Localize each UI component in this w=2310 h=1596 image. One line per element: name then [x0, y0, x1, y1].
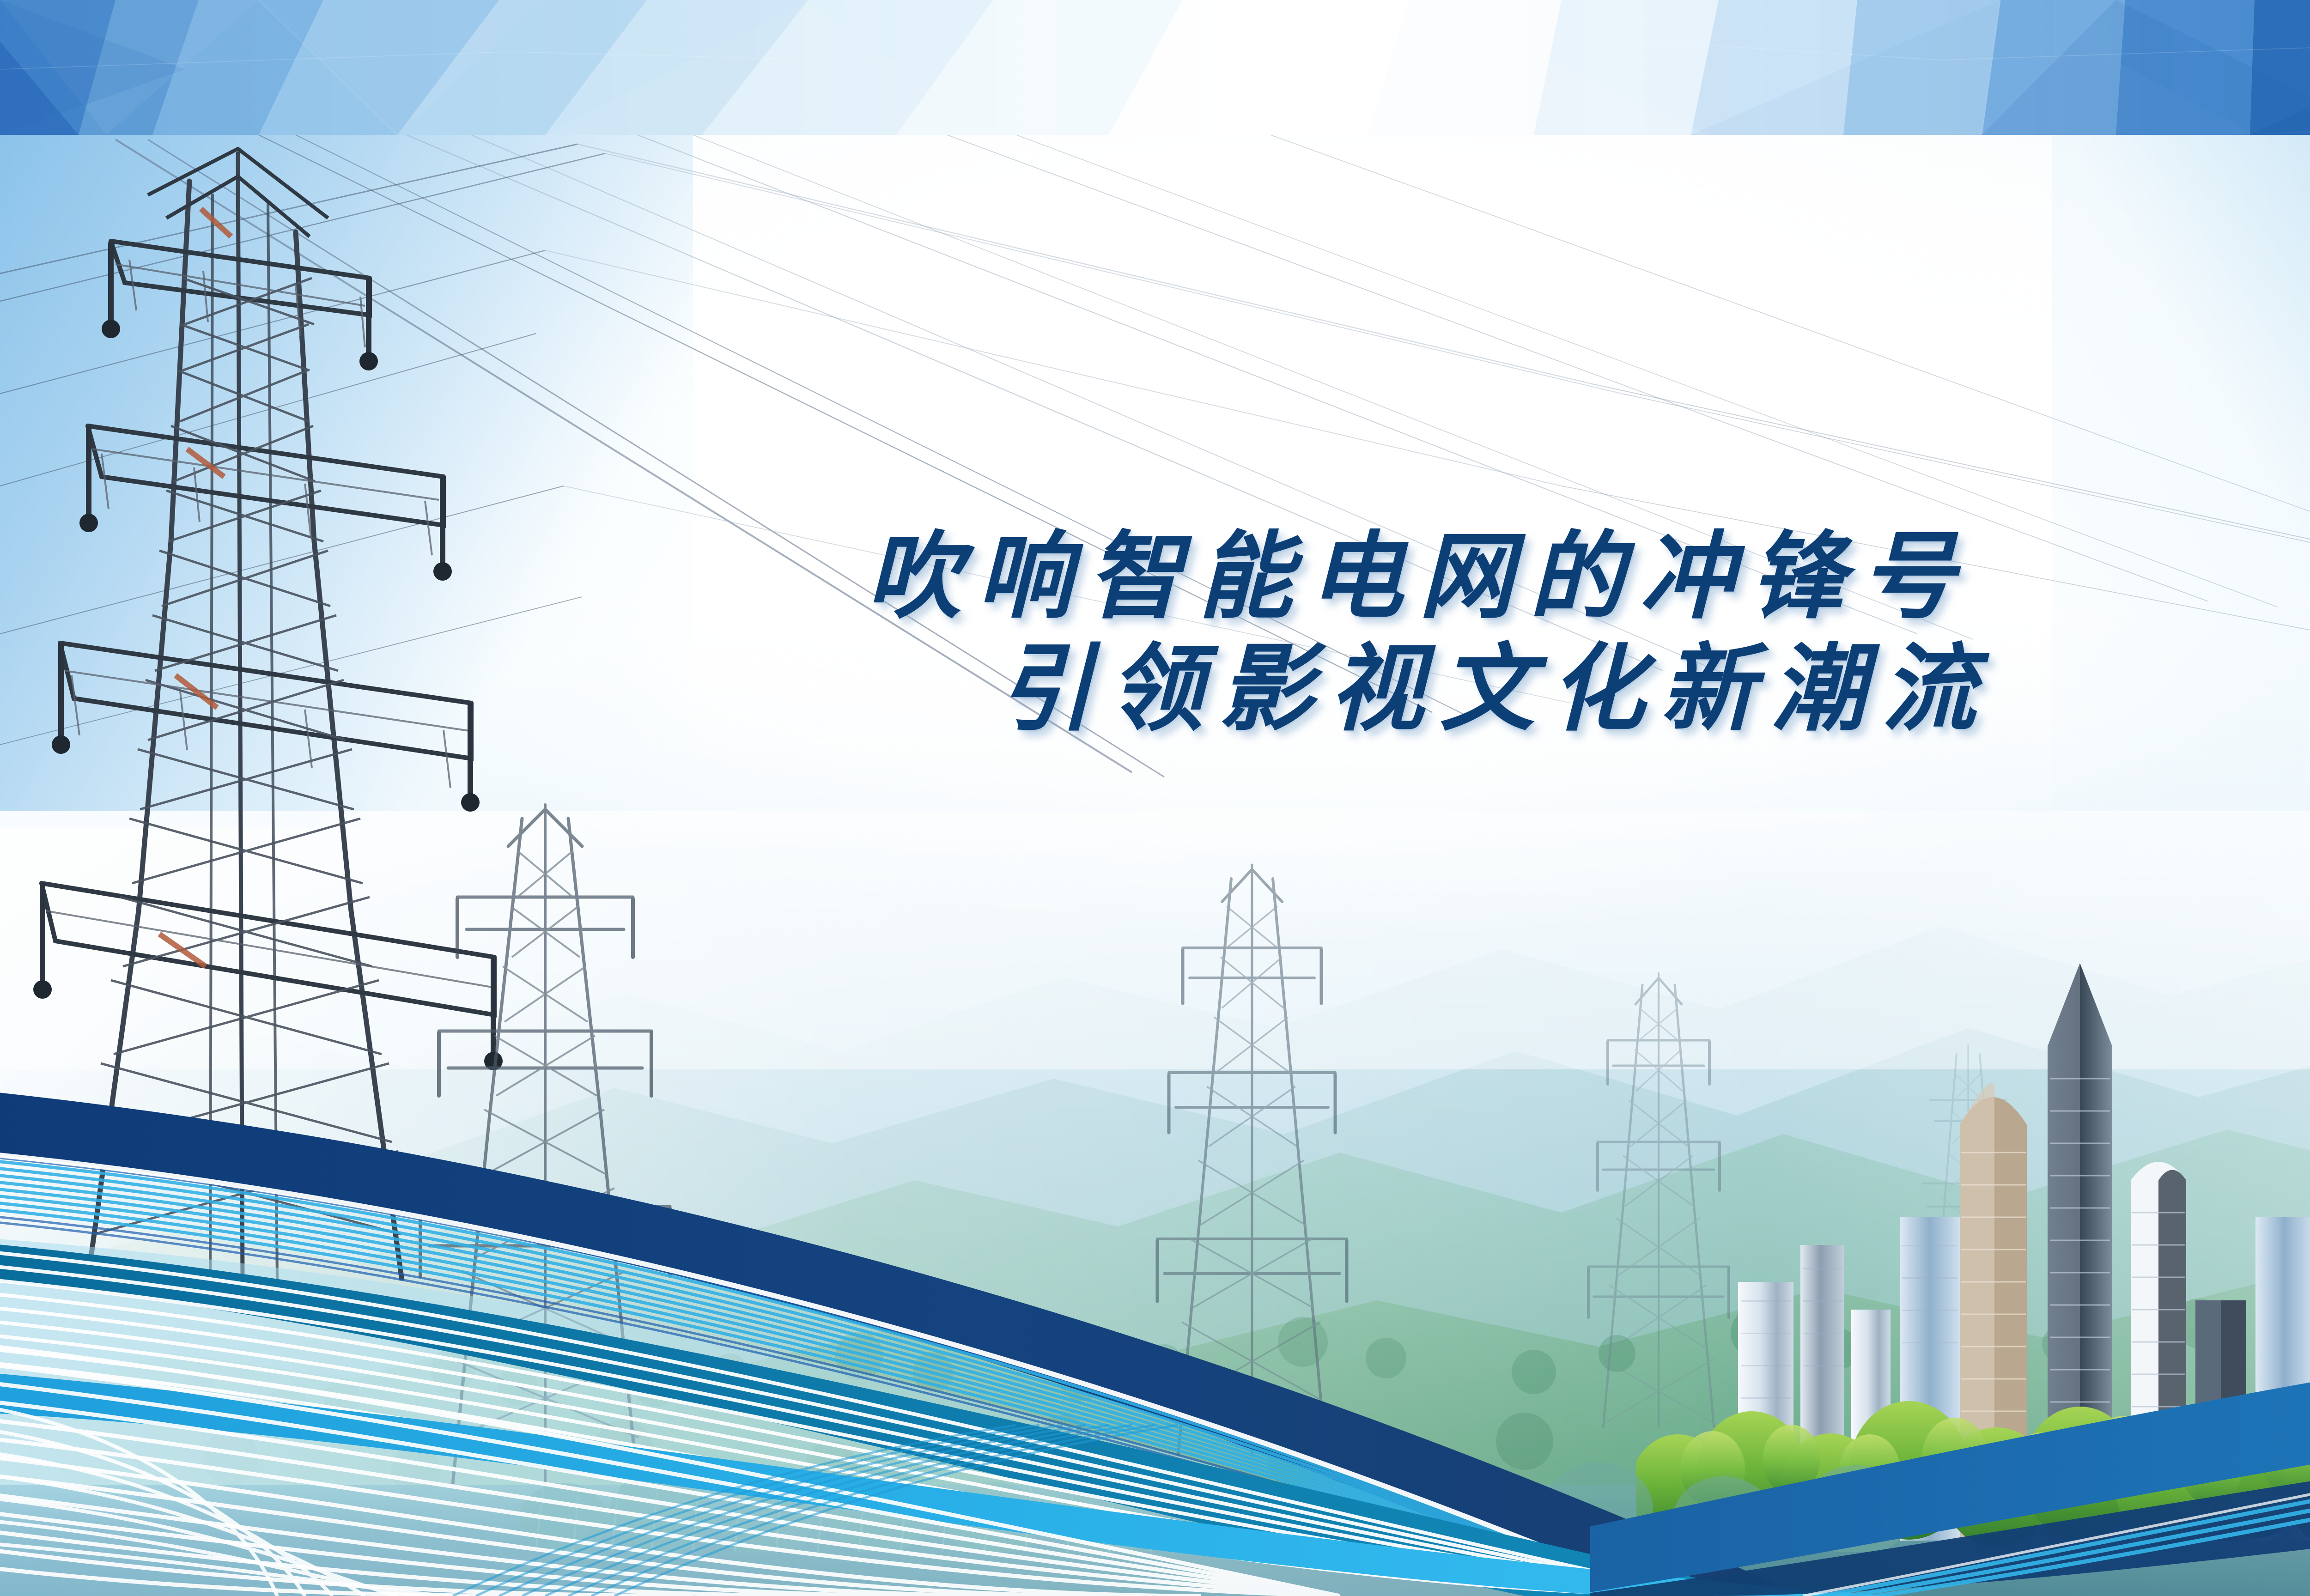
wave-ribbon-right	[1590, 1180, 2310, 1596]
polygon-pattern-svg	[0, 0, 2310, 135]
right-ribbon-svg	[1590, 1180, 2310, 1596]
poster-canvas: 吹响智能电网的冲锋号 引领影视文化新潮流	[0, 0, 2310, 1596]
top-polygon-band	[0, 0, 2310, 135]
